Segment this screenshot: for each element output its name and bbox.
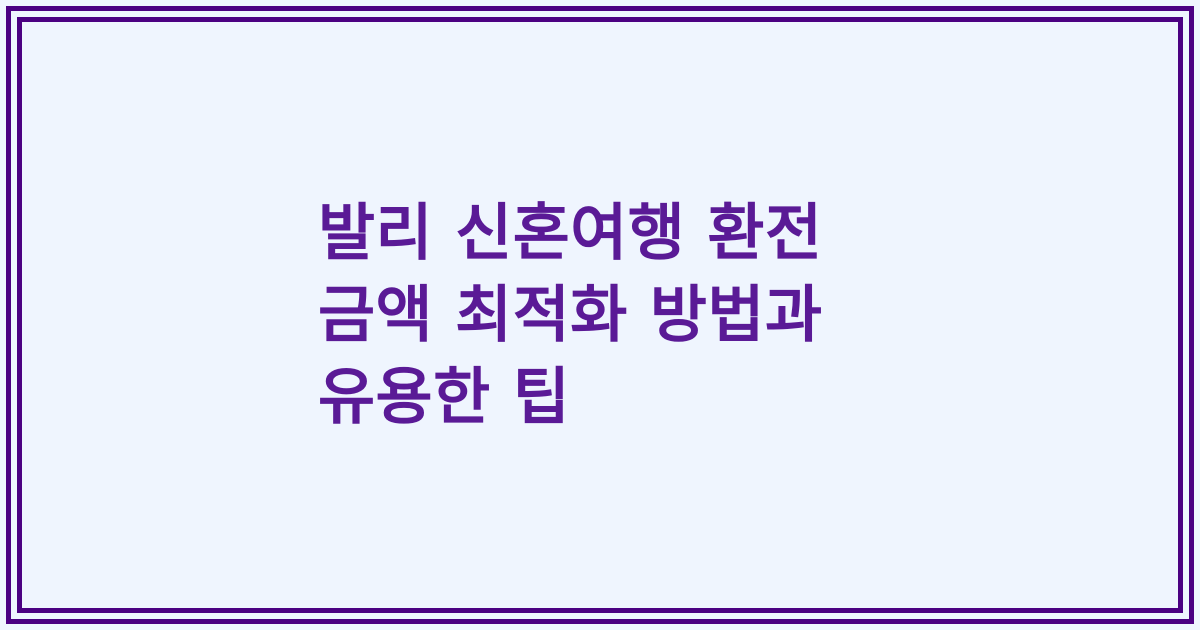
thumbnail-card: 발리 신혼여행 환전 금액 최적화 방법과 유용한 팁 (0, 0, 1200, 630)
title-line-2: 금액 최적화 방법과 (318, 274, 823, 356)
page-title: 발리 신혼여행 환전 금액 최적화 방법과 유용한 팁 (318, 0, 938, 630)
title-line-1: 발리 신혼여행 환전 (318, 192, 823, 274)
title-line-3: 유용한 팁 (318, 356, 570, 438)
